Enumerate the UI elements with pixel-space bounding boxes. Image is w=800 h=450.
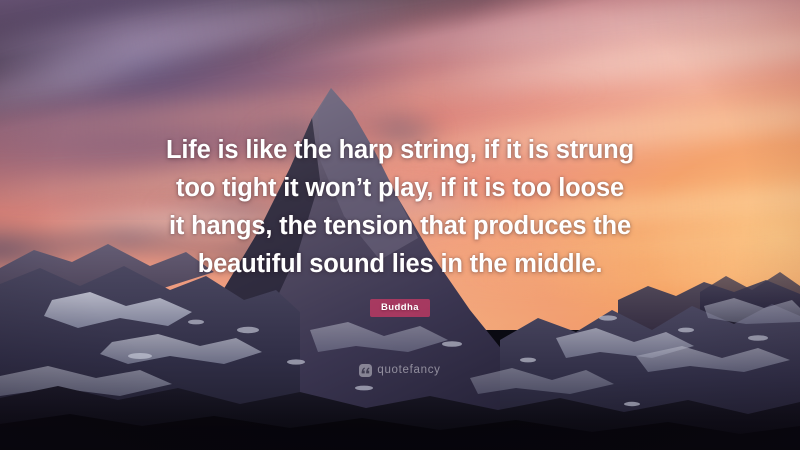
author-attribution: Buddha: [0, 297, 800, 317]
quote-line: too tight it won’t play, if it is too lo…: [136, 169, 664, 207]
quote-line: Life is like the harp string, if it is s…: [136, 131, 664, 169]
watermark: quotefancy: [0, 364, 800, 377]
quote-line: beautiful sound lies in the middle.: [136, 245, 664, 283]
quote-line: it hangs, the tension that produces the: [136, 207, 664, 245]
author-badge[interactable]: Buddha: [370, 299, 430, 317]
quote-text-block: Life is like the harp string, if it is s…: [0, 131, 800, 283]
watermark-brand: quotefancy: [377, 364, 440, 377]
quote-marks-icon: [359, 364, 372, 377]
quote-wallpaper: Life is like the harp string, if it is s…: [0, 0, 800, 450]
